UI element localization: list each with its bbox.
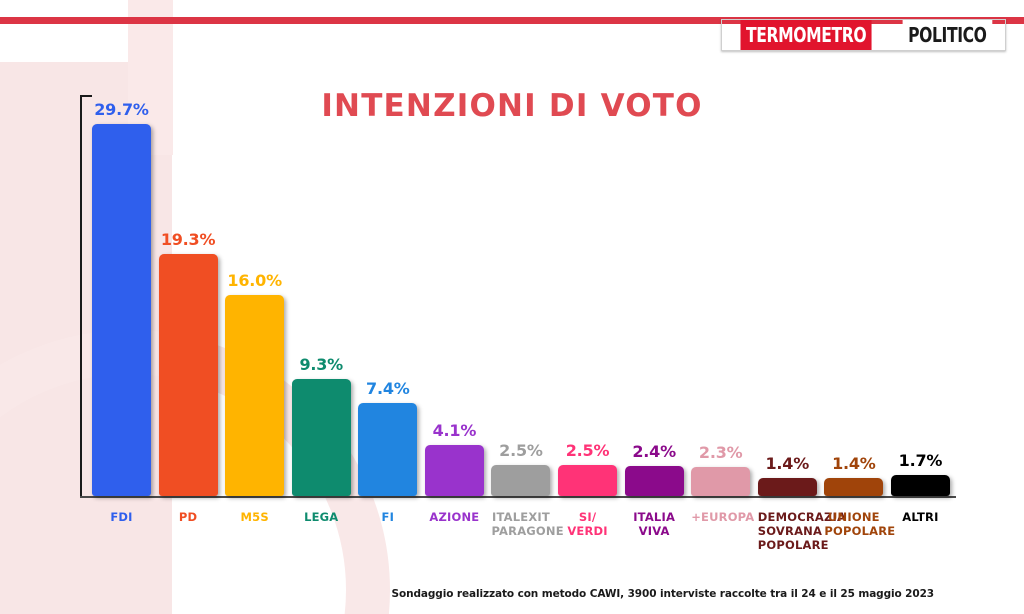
x-axis-label-line: PD xyxy=(159,510,218,524)
bar-rect[interactable] xyxy=(824,478,883,496)
x-axis-label: +EUROPA xyxy=(691,510,750,570)
bar-rect[interactable] xyxy=(891,475,950,496)
x-axis-label-line: FI xyxy=(358,510,417,524)
bar-rect[interactable] xyxy=(758,478,817,496)
bar-value-label: 1.4% xyxy=(832,454,876,473)
bar-value-label: 2.5% xyxy=(566,441,610,460)
x-axis-label: PD xyxy=(159,510,218,570)
bar-rect[interactable] xyxy=(159,254,218,496)
bar-value-label: 7.4% xyxy=(366,379,410,398)
bar-value-label: 2.4% xyxy=(632,442,676,461)
bar-slot: 2.4% xyxy=(625,95,684,496)
bar-slot: 2.5% xyxy=(558,95,617,496)
bar-value-label: 2.5% xyxy=(499,441,543,460)
bar-slot: 4.1% xyxy=(425,95,484,496)
x-axis-label-line: POPOLARE xyxy=(824,524,883,538)
x-axis-label-line: SOVRANA xyxy=(758,524,817,538)
bar-slot: 19.3% xyxy=(159,95,218,496)
bar-slot: 2.5% xyxy=(491,95,550,496)
bar-value-label: 9.3% xyxy=(299,355,343,374)
bar-slot: 9.3% xyxy=(292,95,351,496)
x-axis-label: DEMOCRAZIASOVRANAPOPOLARE xyxy=(758,510,817,570)
x-axis-label: ITALIAVIVA xyxy=(625,510,684,570)
x-axis-label-line: +EUROPA xyxy=(691,510,750,524)
poll-chart-page: TERMOMETRO POLITICO INTENZIONI DI VOTO 2… xyxy=(0,0,1024,614)
x-axis-label-line: FDI xyxy=(92,510,151,524)
bar-slot: 1.4% xyxy=(758,95,817,496)
bar-slot: 1.7% xyxy=(891,95,950,496)
bar-rect[interactable] xyxy=(491,465,550,496)
bar-group: 29.7%19.3%16.0%9.3%7.4%4.1%2.5%2.5%2.4%2… xyxy=(82,95,956,496)
logo-text-termometro: TERMOMETRO xyxy=(741,20,872,50)
x-axis-label: ALTRI xyxy=(891,510,950,570)
x-axis-label-line: VERDI xyxy=(558,524,617,538)
x-axis-label: UNIONEPOPOLARE xyxy=(824,510,883,570)
methodology-note: Sondaggio realizzato con metodo CAWI, 39… xyxy=(392,588,934,600)
bar-rect[interactable] xyxy=(691,467,750,496)
page-title: INTENZIONI DI VOTO xyxy=(0,88,1024,124)
bar-value-label: 19.3% xyxy=(161,230,216,249)
x-axis-label: ITALEXITPARAGONE xyxy=(491,510,550,570)
bar-rect[interactable] xyxy=(425,445,484,496)
bar-value-label: 16.0% xyxy=(227,271,282,290)
x-axis-label-line: VIVA xyxy=(625,524,684,538)
bar-chart-plot-area: 29.7%19.3%16.0%9.3%7.4%4.1%2.5%2.5%2.4%2… xyxy=(80,95,956,498)
x-axis-label: SI/VERDI xyxy=(558,510,617,570)
x-axis-label-line: ITALEXIT xyxy=(491,510,550,524)
bar-slot: 2.3% xyxy=(691,95,750,496)
x-axis-label-group: FDIPDM5SLEGAFIAZIONEITALEXITPARAGONESI/V… xyxy=(82,510,956,570)
bar-slot: 16.0% xyxy=(225,95,284,496)
x-axis-label: FDI xyxy=(92,510,151,570)
bar-rect[interactable] xyxy=(358,403,417,496)
bar-slot: 29.7% xyxy=(92,95,151,496)
x-axis-label: M5S xyxy=(225,510,284,570)
bar-value-label: 1.4% xyxy=(765,454,809,473)
bar-rect[interactable] xyxy=(292,379,351,496)
bar-value-label: 4.1% xyxy=(433,421,477,440)
x-axis-label-line: AZIONE xyxy=(425,510,484,524)
x-axis-label-line: LEGA xyxy=(292,510,351,524)
x-axis-label-line: SI/ xyxy=(558,510,617,524)
x-axis-label-line: DEMOCRAZIA xyxy=(758,510,817,524)
x-axis-label-line: PARAGONE xyxy=(491,524,550,538)
x-axis-label-line: UNIONE xyxy=(824,510,883,524)
x-axis-label-line: ITALIA xyxy=(625,510,684,524)
x-axis-label-line: M5S xyxy=(225,510,284,524)
x-axis-label: FI xyxy=(358,510,417,570)
x-axis-label: AZIONE xyxy=(425,510,484,570)
bar-rect[interactable] xyxy=(558,465,617,496)
x-axis-label-line: POPOLARE xyxy=(758,538,817,552)
logo-text-politico: POLITICO xyxy=(903,20,992,50)
bar-rect[interactable] xyxy=(625,466,684,496)
bar-slot: 1.4% xyxy=(824,95,883,496)
bar-value-label: 2.3% xyxy=(699,443,743,462)
x-axis-baseline xyxy=(80,496,956,498)
bar-rect[interactable] xyxy=(92,124,151,496)
bar-slot: 7.4% xyxy=(358,95,417,496)
x-axis-label: LEGA xyxy=(292,510,351,570)
termometro-politico-logo[interactable]: TERMOMETRO POLITICO xyxy=(721,19,1006,51)
bar-rect[interactable] xyxy=(225,295,284,496)
bar-value-label: 1.7% xyxy=(899,451,943,470)
x-axis-label-line: ALTRI xyxy=(891,510,950,524)
